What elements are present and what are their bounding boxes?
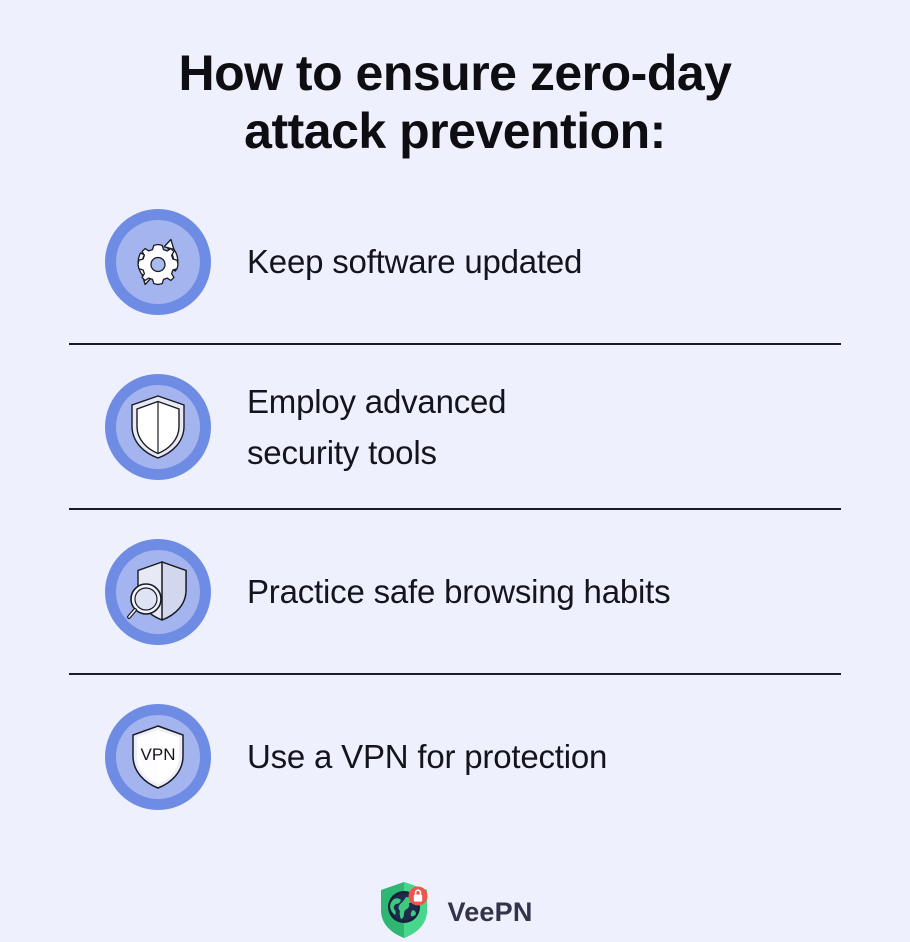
shield-icon: [105, 374, 211, 480]
tips-list: Keep software updated Employ advanced se…: [0, 180, 910, 838]
list-item-label: Employ advanced security tools: [247, 376, 506, 478]
page-title: How to ensure zero-day attack prevention…: [75, 44, 835, 160]
shield-vpn-icon: VPN: [105, 704, 211, 810]
veepn-shield-globe-lock-logo: [377, 880, 431, 942]
list-item: Keep software updated: [69, 180, 841, 343]
tip-icon-wrap: [69, 209, 247, 315]
infographic-card: How to ensure zero-day attack prevention…: [0, 0, 910, 942]
gear-refresh-icon: [105, 209, 211, 315]
list-item-label: Keep software updated: [247, 236, 582, 287]
list-item: Practice safe browsing habits: [69, 510, 841, 673]
tip-icon-wrap: VPN: [69, 704, 247, 810]
list-item-label: Use a VPN for protection: [247, 731, 607, 782]
brand-name: VeePN: [447, 897, 532, 928]
list-item: VPN Use a VPN for protection: [69, 675, 841, 838]
tip-icon-wrap: [69, 374, 247, 480]
shield-magnifier-icon: [105, 539, 211, 645]
vpn-icon-text: VPN: [141, 745, 176, 764]
footer-branding: VeePN: [377, 880, 532, 942]
list-item-label: Practice safe browsing habits: [247, 566, 670, 617]
list-item: Employ advanced security tools: [69, 345, 841, 508]
tip-icon-wrap: [69, 539, 247, 645]
